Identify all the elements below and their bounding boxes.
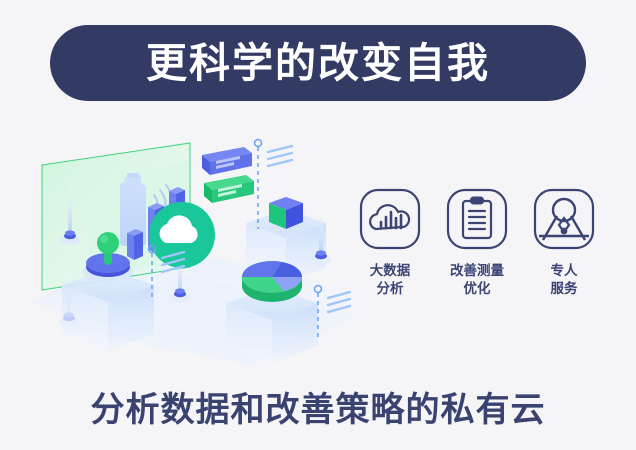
page-title: 更科学的改变自我 bbox=[146, 43, 490, 84]
floating-label-green bbox=[204, 175, 254, 203]
feature-label-line-2: 服务 bbox=[551, 280, 578, 298]
tagline: 分析数据和改善策略的私有云 bbox=[0, 382, 636, 431]
cloud-badge bbox=[149, 202, 215, 268]
cloud-bar-chart-icon bbox=[359, 188, 421, 250]
feature-label-line-2: 分析 bbox=[370, 280, 411, 298]
feature-label-measurement-optimization: 改善测量 优化 bbox=[450, 262, 504, 298]
pie-chart-3d bbox=[242, 261, 302, 302]
title-banner: 更科学的改变自我 bbox=[50, 25, 586, 101]
feature-label-dedicated-service: 专人 服务 bbox=[551, 262, 578, 298]
clipboard-icon bbox=[446, 188, 508, 250]
feature-label-line-1: 专人 bbox=[551, 262, 578, 280]
feature-item-measurement-optimization[interactable]: 改善测量 优化 bbox=[439, 188, 515, 298]
feature-label-line-1: 改善测量 bbox=[450, 262, 504, 280]
feature-label-line-2: 优化 bbox=[450, 280, 504, 298]
isometric-illustration bbox=[30, 125, 370, 365]
poster-canvas: 更科学的改变自我 bbox=[0, 0, 636, 450]
feature-label-line-1: 大数据 bbox=[370, 262, 411, 280]
feature-item-dedicated-service[interactable]: 专人 服务 bbox=[526, 188, 602, 298]
floating-label-blue bbox=[202, 147, 252, 175]
feature-label-big-data-analysis: 大数据 分析 bbox=[370, 262, 411, 298]
support-person-icon bbox=[533, 188, 595, 250]
feature-item-big-data-analysis[interactable]: 大数据 分析 bbox=[352, 188, 428, 298]
feature-list: 大数据 分析 改善测量 bbox=[352, 188, 602, 298]
